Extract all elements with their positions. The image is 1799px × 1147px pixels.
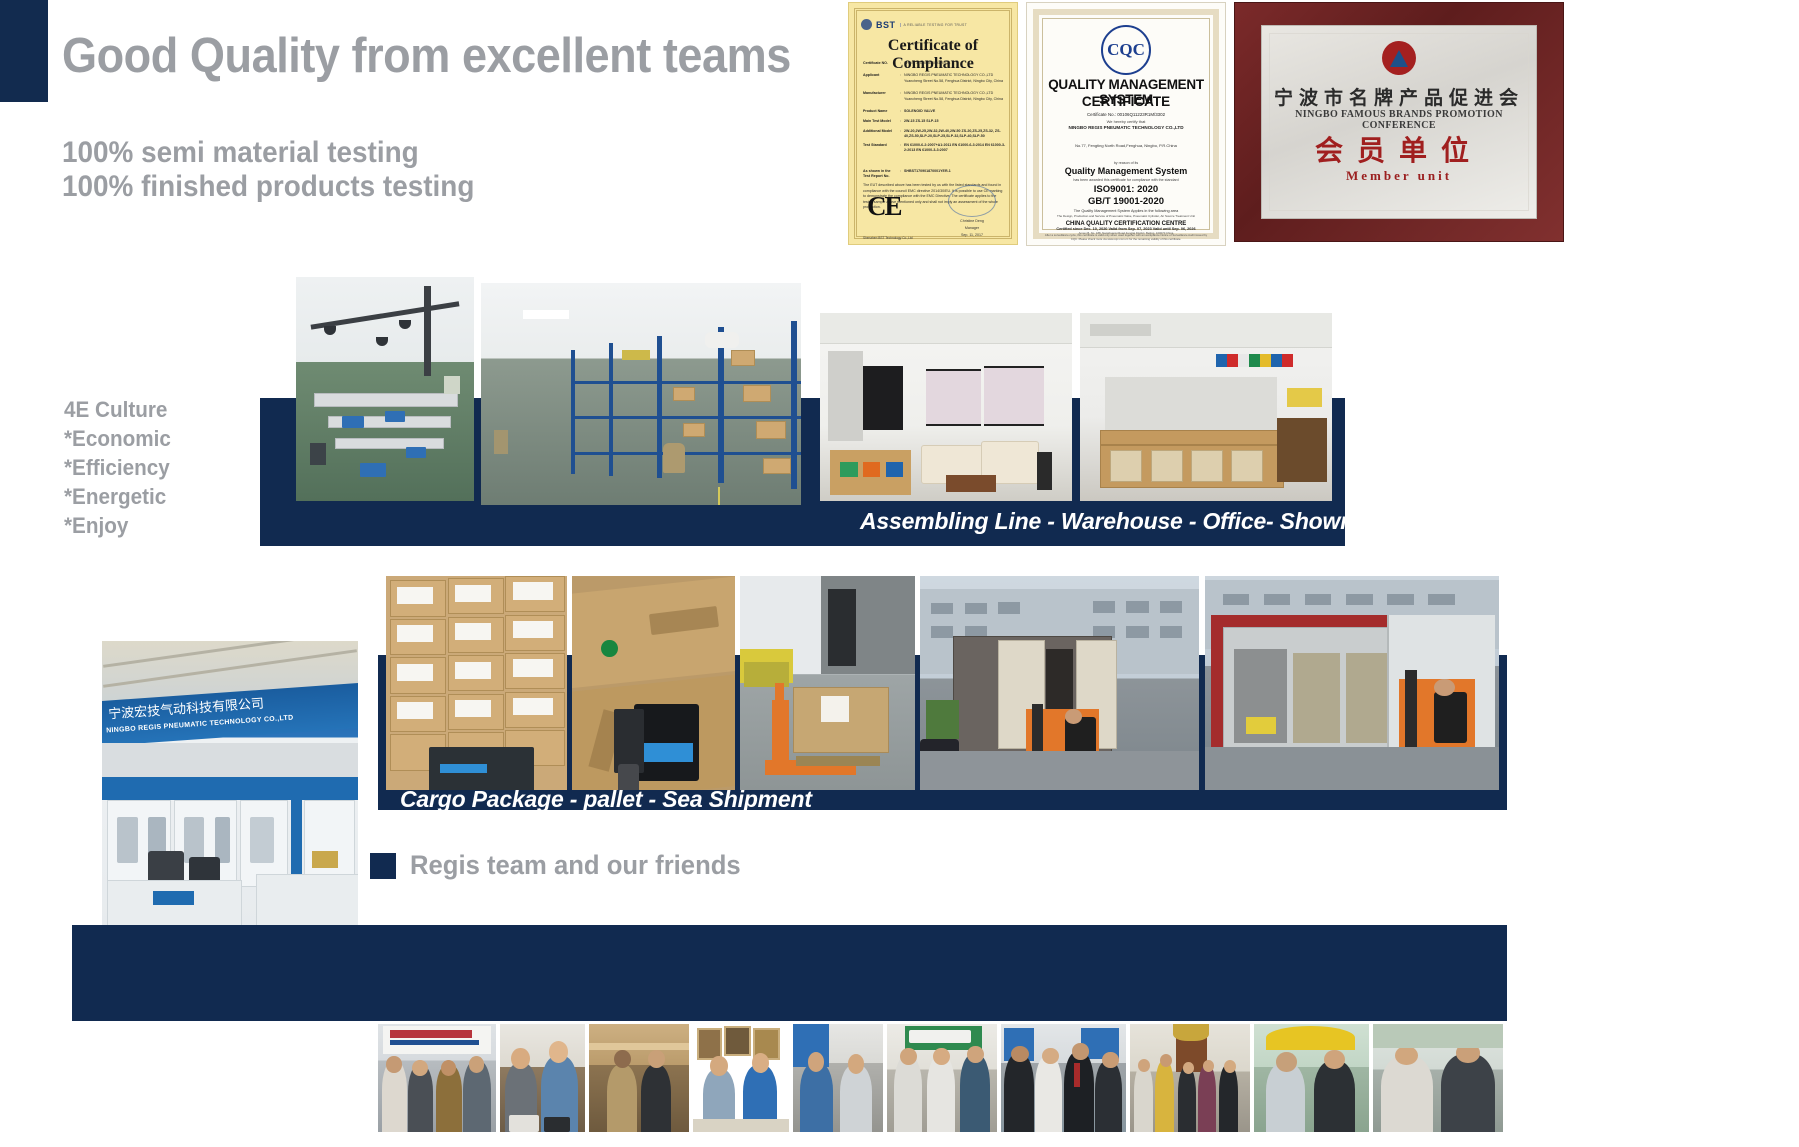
culture-heading: 4E Culture [64, 395, 280, 424]
culture-item-energetic: *Energetic [64, 482, 280, 511]
plaque-chinese-title: 宁波市名牌产品促进会 [1261, 83, 1537, 110]
ningbo-brands-logo-icon [1382, 41, 1416, 75]
testing-line-1: 100% semi material testing [62, 136, 419, 170]
ce-signer-title: Manager [939, 226, 1005, 231]
iso-certificate-image: CQC QUALITY MANAGEMENT SYSTEM CERTIFICAT… [1026, 2, 1226, 246]
testing-line-2: 100% finished products testing [62, 170, 474, 204]
iso-scope-detail: The Design, Production and Service of Pn… [1027, 214, 1225, 218]
member-unit-plaque-image: 宁波市名牌产品促进会 NINGBO FAMOUS BRANDS PROMOTIO… [1234, 2, 1564, 242]
plaque-english-title: NINGBO FAMOUS BRANDS PROMOTION CONFERENC… [1261, 109, 1537, 131]
page-title: Good Quality from excellent teams [62, 28, 791, 84]
team-photo-3 [589, 1024, 689, 1132]
ce-signature-block: Christine Deng Manager Sep. 11, 2017 [939, 185, 1005, 238]
ce-signer-name: Christine Deng [939, 219, 1005, 224]
team-section-title: Regis team and our friends [410, 850, 741, 881]
team-photo-2 [500, 1024, 585, 1132]
pallet-truck-photo [740, 576, 915, 790]
iso-certification-centre: CHINA QUALITY CERTIFICATION CENTRE [1027, 221, 1225, 227]
ce-field-cert-no: Certificate NO.: SHBST170901870001YEC-1 [863, 61, 1007, 66]
team-photo-4 [693, 1024, 789, 1132]
ce-field-product-name: Product Name: SOLENOID VALVE [863, 109, 1007, 114]
showroom-photo [1080, 313, 1332, 501]
bst-mark-icon [861, 19, 872, 30]
iso-company-name: NINGBO REGIS PNEUMATIC TECHNOLOGY CO.,LT… [1027, 125, 1225, 130]
exhibition-booth-photo: 宁波宏技气动科技有限公司 NINGBO REGIS PNEUMATIC TECH… [102, 641, 358, 925]
team-section-heading: Regis team and our friends [370, 850, 758, 881]
team-photo-7 [1001, 1024, 1126, 1132]
ce-footer: Shenzhen BST Technology Co.,Ltd [863, 236, 913, 240]
culture-item-efficiency: *Efficiency [64, 453, 280, 482]
culture-item-economic: *Economic [64, 424, 280, 453]
bst-logo: BST A RELIABLE TESTING FOR TRUST [861, 19, 967, 30]
slide-canvas: Good Quality from excellent teams 100% s… [0, 0, 1799, 1147]
ce-issue-date: Sep. 11, 2017 [939, 233, 1005, 238]
ce-field-main-test-model: Main Test Model: 2W-15 ZS-15 SLP-15 [863, 119, 1007, 124]
iso-standard-2: GB/T 19001-2020 [1027, 196, 1225, 207]
facility-caption: Assembling Line - Warehouse - Office- Sh… [860, 508, 1397, 535]
plaque-face: 宁波市名牌产品促进会 NINGBO FAMOUS BRANDS PROMOTIO… [1261, 25, 1537, 219]
ce-field-test-standard: Test Standard: EN 61000-6-2:2007+A1:2011… [863, 143, 1007, 153]
warehouse-photo [481, 283, 801, 505]
team-photo-8 [1130, 1024, 1250, 1132]
truck-loading-photo [920, 576, 1199, 790]
iso-company-address: No.77, Fengting North Road,Fenghua, Ning… [1027, 143, 1225, 148]
ce-title: Certificate of Compliance [849, 37, 1017, 73]
ce-certificate-image: BST A RELIABLE TESTING FOR TRUST Certifi… [848, 2, 1018, 245]
ce-field-additional-model: Additional Model: 2W-20,2W-25,2W-32,2W-4… [863, 129, 1007, 139]
ce-field-applicant: Applicant: NINGBO REGIS PNEUMATIC TECHNO… [863, 73, 1007, 78]
ce-field-manufacturer-address: : Yuancheng Street No.58, Fenghua Distri… [863, 97, 1007, 102]
logistics-caption: Cargo Package - pallet - Sea Shipment [400, 786, 812, 813]
bst-tagline: A RELIABLE TESTING FOR TRUST [900, 23, 967, 27]
team-section-bullet-icon [370, 853, 396, 879]
title-accent-bar [0, 0, 48, 102]
ce-mark-icon: CE [867, 191, 901, 222]
regis-carton-photo [572, 576, 735, 790]
iso-reason-text: by reason of its [1027, 161, 1225, 165]
office-photo [820, 313, 1072, 501]
packed-boxes-photo [386, 576, 567, 790]
culture-item-enjoy: *Enjoy [64, 511, 280, 540]
team-band [72, 925, 1507, 1021]
team-photo-1 [378, 1024, 496, 1132]
iso-hereby-text: We hereby certify that [1027, 119, 1225, 124]
iso-centre-address: Annex B, No. 188, Nansihuanxi Road,Fengt… [1027, 231, 1225, 235]
flags-strip-icon [1216, 354, 1293, 367]
assembling-line-photo [296, 277, 474, 501]
container-loading-photo [1205, 576, 1499, 790]
iso-certificate-no: Certificate No.: 00106Q11223R1M/3302 [1027, 112, 1225, 117]
team-photo-9 [1254, 1024, 1369, 1132]
iso-award-text: has been awarded this certificate for co… [1027, 178, 1225, 182]
cqc-logo-icon: CQC [1101, 25, 1151, 75]
iso-title-line2: CERTIFICATE [1027, 94, 1225, 109]
team-photo-5 [793, 1024, 883, 1132]
iso-standard-1: ISO9001: 2020 [1027, 184, 1225, 195]
iso-system-name: Quality Management System [1027, 166, 1225, 176]
team-photo-10 [1373, 1024, 1503, 1132]
team-photo-6 [887, 1024, 997, 1132]
bst-issuer-name: BST [876, 20, 896, 30]
ce-field-manufacturer: Manufacturer: NINGBO REGIS PNEUMATIC TEC… [863, 91, 1007, 96]
ce-field-applicant-address: : Yuancheng Street No.58, Fenghua Distri… [863, 79, 1007, 84]
iso-scope-heading: The Quality Management System Applies in… [1027, 209, 1225, 213]
ce-stamp-icon [948, 185, 996, 217]
plaque-english-member: Member unit [1261, 168, 1537, 184]
plaque-chinese-member: 会员单位 [1261, 129, 1537, 169]
ce-field-test-report-no: As shown in the Test Report No.: SHBST17… [863, 169, 1007, 179]
